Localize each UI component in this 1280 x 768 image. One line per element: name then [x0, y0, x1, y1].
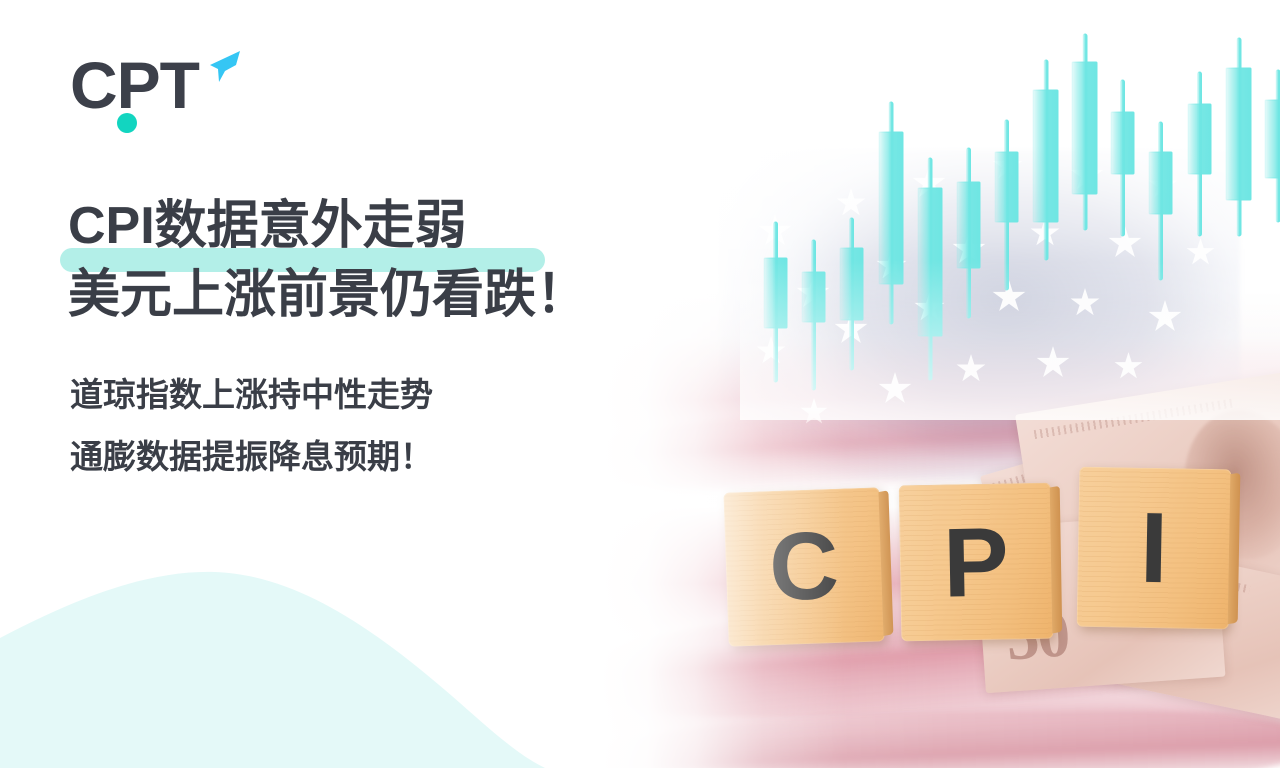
promo-banner: 50 50 C P I — [0, 0, 1280, 768]
headline-line-2: 美元上涨前景仍看跌！ — [68, 261, 708, 330]
paper-plane-icon — [188, 46, 244, 98]
headline-line-1: CPI数据意外走弱 — [68, 192, 708, 261]
cpt-logo[interactable]: CPT — [70, 52, 240, 132]
subheadline-line-2: 通膨数据提振降息预期！ — [70, 440, 710, 473]
headline-block: CPI数据意外走弱 美元上涨前景仍看跌！ — [68, 192, 708, 330]
logo-dot-icon — [114, 110, 140, 136]
subheadline-line-1: 道琼指数上涨持中性走势 — [70, 378, 710, 411]
decorative-wave-shape — [0, 538, 640, 768]
candlestick-chart-decoration — [740, 0, 1280, 420]
